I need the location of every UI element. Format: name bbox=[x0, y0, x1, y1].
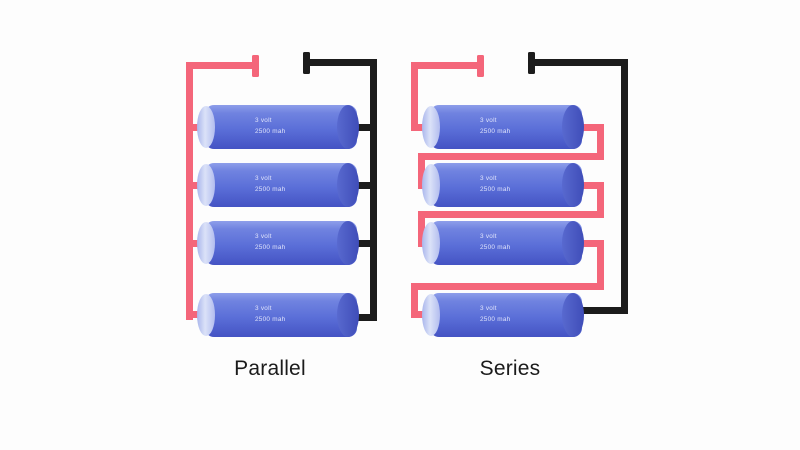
parallel-cell-3: 3 volt 2500 mah bbox=[197, 221, 359, 265]
cell-capacity: 2500 mah bbox=[480, 128, 511, 135]
parallel-group: 3 volt 2500 mah 3 volt 2500 mah 3 volt 2… bbox=[186, 52, 377, 337]
battery-wiring-diagram: 3 volt 2500 mah 3 volt 2500 mah 3 volt 2… bbox=[0, 0, 800, 450]
cell-capacity: 2500 mah bbox=[480, 316, 511, 323]
cell-voltage: 3 volt bbox=[480, 175, 497, 182]
cell-capacity: 2500 mah bbox=[255, 186, 286, 193]
parallel-cell-2: 3 volt 2500 mah bbox=[197, 163, 359, 207]
cell-capacity: 2500 mah bbox=[255, 316, 286, 323]
series-cell-4: 3 volt 2500 mah bbox=[422, 293, 584, 337]
cell-voltage: 3 volt bbox=[255, 233, 272, 240]
cell-voltage: 3 volt bbox=[480, 117, 497, 124]
parallel-cell-1: 3 volt 2500 mah bbox=[197, 105, 359, 149]
series-cell-2: 3 volt 2500 mah bbox=[422, 163, 584, 207]
cell-voltage: 3 volt bbox=[255, 175, 272, 182]
series-caption: Series bbox=[420, 357, 600, 381]
series-cell-1: 3 volt 2500 mah bbox=[422, 105, 584, 149]
series-group: 3 volt 2500 mah 3 volt 2500 mah 3 volt 2… bbox=[411, 52, 628, 337]
cell-voltage: 3 volt bbox=[480, 233, 497, 240]
cell-capacity: 2500 mah bbox=[255, 244, 286, 251]
parallel-caption: Parallel bbox=[180, 357, 360, 381]
cell-capacity: 2500 mah bbox=[480, 244, 511, 251]
parallel-cell-4: 3 volt 2500 mah bbox=[197, 293, 359, 337]
diagram-canvas: 3 volt 2500 mah 3 volt 2500 mah 3 volt 2… bbox=[0, 0, 800, 450]
cell-voltage: 3 volt bbox=[480, 305, 497, 312]
series-cell-3: 3 volt 2500 mah bbox=[422, 221, 584, 265]
cell-voltage: 3 volt bbox=[255, 305, 272, 312]
cell-capacity: 2500 mah bbox=[480, 186, 511, 193]
cell-voltage: 3 volt bbox=[255, 117, 272, 124]
cell-capacity: 2500 mah bbox=[255, 128, 286, 135]
